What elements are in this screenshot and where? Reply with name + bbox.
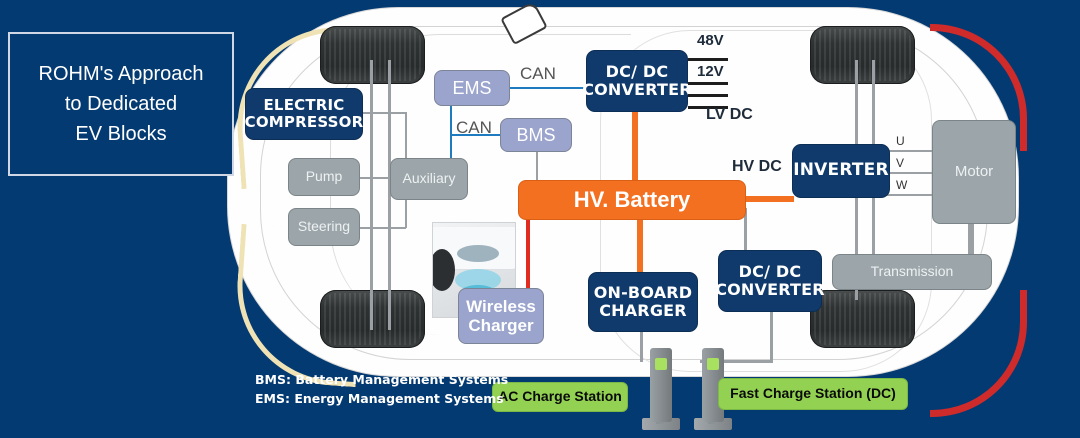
block-dcdc-converter-bottom[interactable]: DC/ DC CONVERTER bbox=[718, 250, 822, 312]
line-dcdc-bottom-to-fast-station bbox=[770, 310, 773, 362]
block-hv-battery[interactable]: HV. Battery bbox=[518, 180, 746, 220]
line-steering-to-auxiliary bbox=[360, 227, 406, 229]
taillight-rear-right bbox=[930, 290, 1027, 417]
line-compressor-to-auxiliary bbox=[363, 112, 407, 114]
lv-stub-48v-2 bbox=[688, 82, 728, 85]
ac-charge-pedestal bbox=[642, 348, 680, 432]
page-title-line-2: to Dedicated bbox=[39, 89, 204, 119]
line-pump-to-auxiliary bbox=[360, 177, 392, 179]
label-phase-v: V bbox=[896, 156, 904, 170]
frame-rail-left bbox=[370, 60, 373, 330]
line-battery-to-onboard-charger bbox=[637, 220, 643, 276]
block-fast-charge-station[interactable]: Fast Charge Station (DC) bbox=[718, 378, 908, 410]
block-auxiliary[interactable]: Auxiliary bbox=[390, 158, 468, 200]
label-hv-dc: HV DC bbox=[732, 158, 782, 176]
page-title: ROHM's Approach to Dedicated EV Blocks bbox=[8, 32, 234, 176]
lv-stub-48v bbox=[688, 58, 728, 61]
legend: BMS: Battery Management Systems EMS: Ene… bbox=[255, 370, 508, 408]
wheel-front-right bbox=[810, 26, 915, 84]
block-dcdc-converter-top[interactable]: DC/ DC CONVERTER bbox=[586, 50, 688, 112]
label-phase-u: U bbox=[896, 134, 905, 148]
line-compressor-to-auxiliary-v bbox=[405, 112, 407, 162]
pedestal-screen bbox=[655, 358, 667, 370]
block-wireless-charger-line-2: Charger bbox=[466, 316, 536, 335]
block-electric-compressor-line-1: ELECTRIC bbox=[245, 97, 364, 114]
block-wireless-charger-line-1: Wireless bbox=[466, 297, 536, 316]
block-ems[interactable]: EMS bbox=[434, 70, 510, 106]
label-phase-w: W bbox=[896, 178, 907, 192]
line-dcdc-top-to-battery bbox=[632, 112, 638, 182]
line-motor-to-transmission bbox=[968, 222, 974, 256]
block-ac-charge-station[interactable]: AC Charge Station bbox=[492, 382, 628, 412]
block-wireless-charger[interactable]: Wireless Charger bbox=[458, 288, 544, 344]
block-steering[interactable]: Steering bbox=[288, 208, 360, 246]
label-can-top: CAN bbox=[520, 64, 556, 84]
block-onboard-charger-line-2: CHARGER bbox=[594, 302, 693, 320]
photo-receiver-pad bbox=[457, 245, 499, 262]
label-can-bottom: CAN bbox=[456, 118, 492, 138]
block-inverter[interactable]: INVERTER bbox=[792, 144, 890, 198]
page-title-line-3: EV Blocks bbox=[39, 119, 204, 149]
line-phase-w bbox=[884, 194, 936, 196]
legend-ems: EMS: Energy Management Systems bbox=[255, 389, 508, 408]
block-onboard-charger[interactable]: ON-BOARD CHARGER bbox=[588, 272, 698, 332]
label-12v: 12V bbox=[697, 63, 724, 80]
block-motor[interactable]: Motor bbox=[932, 120, 1016, 224]
pedestal-screen bbox=[707, 358, 719, 370]
line-bms-to-battery bbox=[536, 152, 538, 182]
line-ems-to-dcdc-top bbox=[510, 87, 588, 89]
block-transmission[interactable]: Transmission bbox=[832, 254, 992, 290]
block-dcdc-top-line-1: DC/ DC bbox=[582, 63, 692, 81]
block-onboard-charger-line-1: ON-BOARD bbox=[594, 284, 693, 302]
photo-tire bbox=[432, 249, 455, 291]
page-title-line-1: ROHM's Approach bbox=[39, 59, 204, 89]
label-48v: 48V bbox=[697, 32, 724, 49]
block-dcdc-bottom-line-1: DC/ DC bbox=[715, 263, 825, 281]
block-pump[interactable]: Pump bbox=[288, 158, 360, 196]
diagram-canvas: ROHM's Approach to Dedicated EV Blocks bbox=[0, 0, 1080, 438]
block-electric-compressor-line-2: COMPRESSOR bbox=[245, 114, 364, 131]
lv-stub-12v bbox=[688, 94, 728, 97]
block-dcdc-bottom-line-2: CONVERTER bbox=[715, 281, 825, 299]
block-bms[interactable]: BMS bbox=[500, 118, 572, 152]
line-battery-to-inverter bbox=[746, 196, 794, 202]
wheel-rear-right bbox=[810, 290, 915, 348]
legend-bms: BMS: Battery Management Systems bbox=[255, 370, 508, 389]
line-phase-u bbox=[884, 150, 936, 152]
block-electric-compressor[interactable]: ELECTRIC COMPRESSOR bbox=[245, 88, 363, 140]
line-phase-v bbox=[884, 172, 936, 174]
label-lv-dc: LV DC bbox=[706, 106, 753, 124]
block-dcdc-top-line-2: CONVERTER bbox=[582, 81, 692, 99]
